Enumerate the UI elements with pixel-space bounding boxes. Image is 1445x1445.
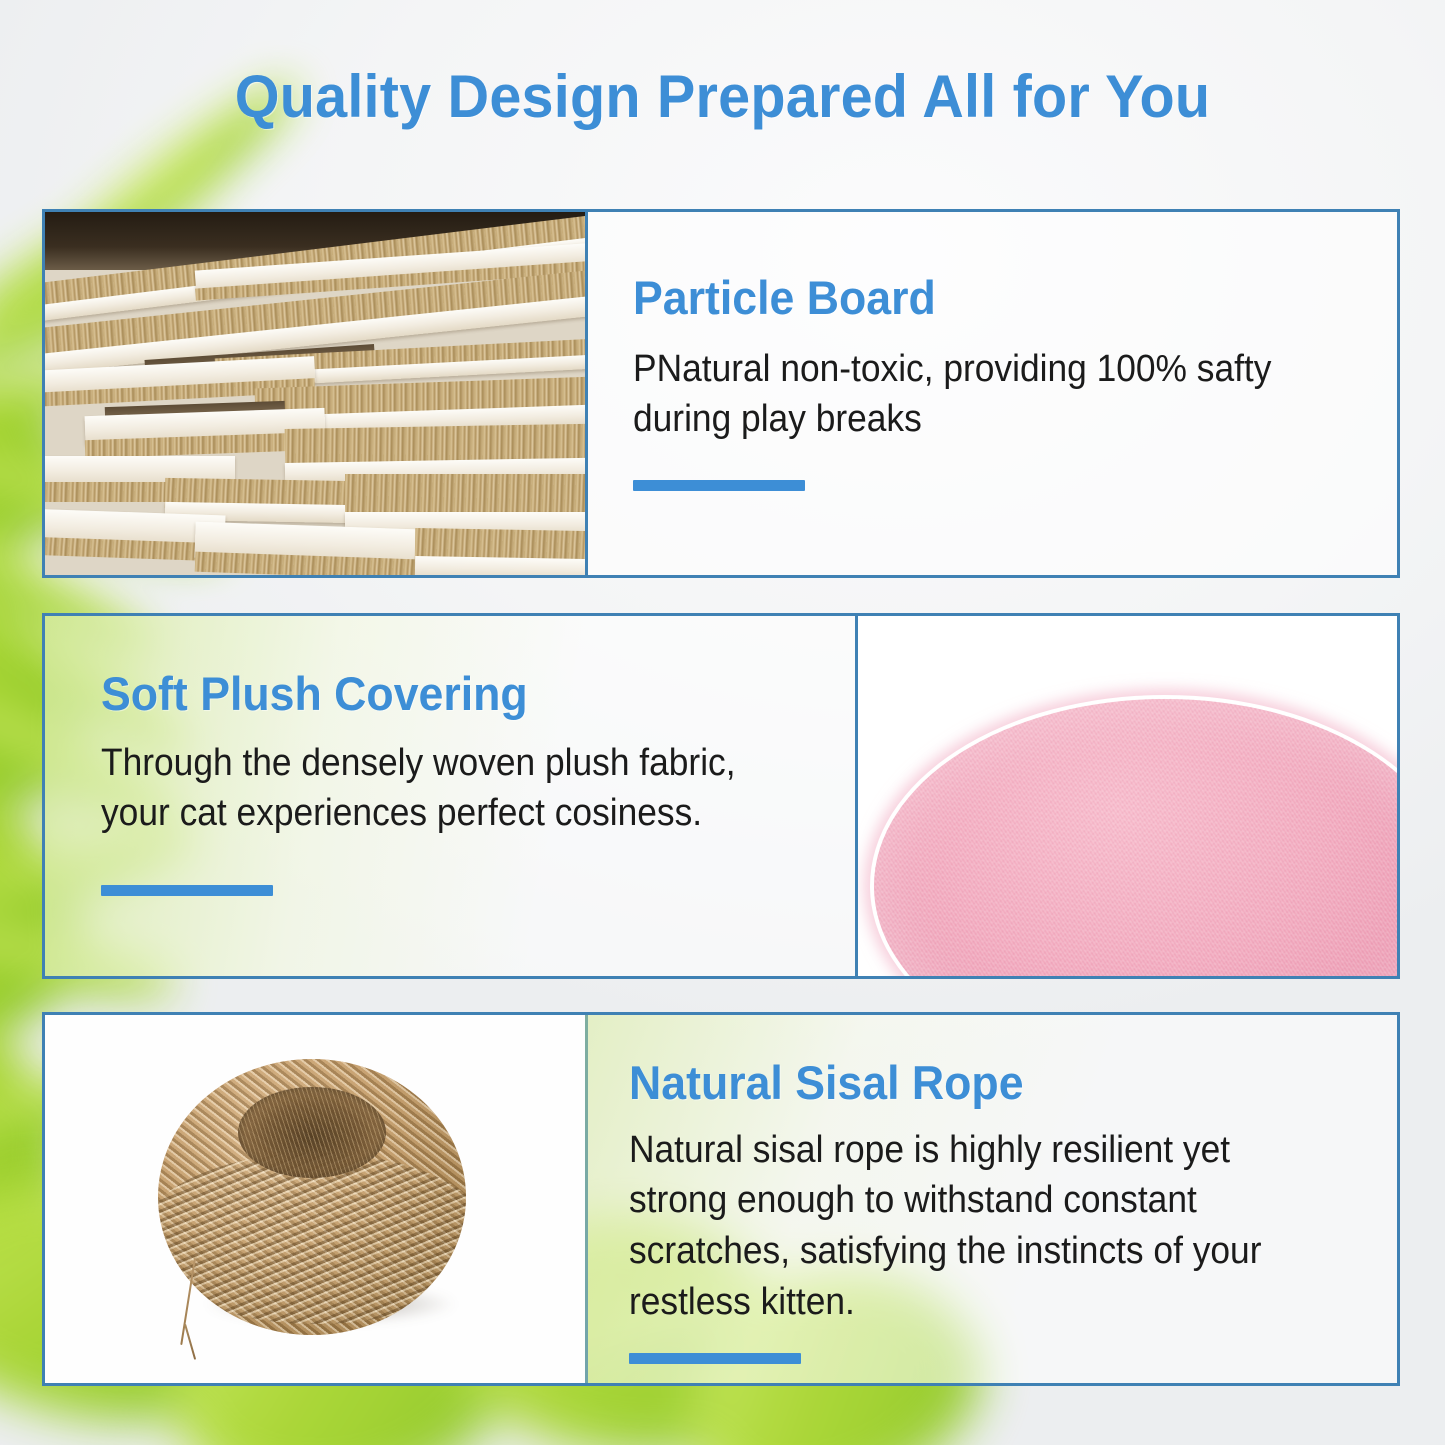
- feature-heading: Natural Sisal Rope: [629, 1059, 1334, 1107]
- particle-board-stack-photo: [45, 212, 585, 575]
- feature-card-soft-plush-covering: Soft Plush Covering Through the densely …: [42, 613, 1400, 979]
- feature-text-block: Soft Plush Covering Through the densely …: [45, 616, 858, 976]
- feature-heading: Soft Plush Covering: [101, 670, 792, 718]
- accent-underline: [101, 885, 273, 896]
- pink-plush-cushion-photo: [858, 616, 1397, 976]
- feature-body: Natural sisal rope is highly resilient y…: [629, 1125, 1319, 1327]
- feature-body: Through the densely woven plush fabric, …: [101, 738, 743, 839]
- feature-card-particle-board: Particle Board PNatural non-toxic, provi…: [42, 209, 1400, 578]
- feature-card-natural-sisal-rope: Natural Sisal Rope Natural sisal rope is…: [42, 1012, 1400, 1386]
- feature-body: PNatural non-toxic, providing 100% safty…: [633, 344, 1306, 444]
- feature-heading: Particle Board: [633, 274, 1321, 322]
- feature-text-block: Particle Board PNatural non-toxic, provi…: [585, 212, 1397, 575]
- accent-underline: [633, 480, 805, 491]
- infographic-canvas: Quality Design Prepared All for You: [0, 0, 1445, 1445]
- feature-text-block: Natural Sisal Rope Natural sisal rope is…: [585, 1015, 1397, 1383]
- page-title: Quality Design Prepared All for You: [29, 62, 1416, 131]
- accent-underline: [629, 1353, 801, 1364]
- sisal-rope-ball-photo: [45, 1015, 585, 1383]
